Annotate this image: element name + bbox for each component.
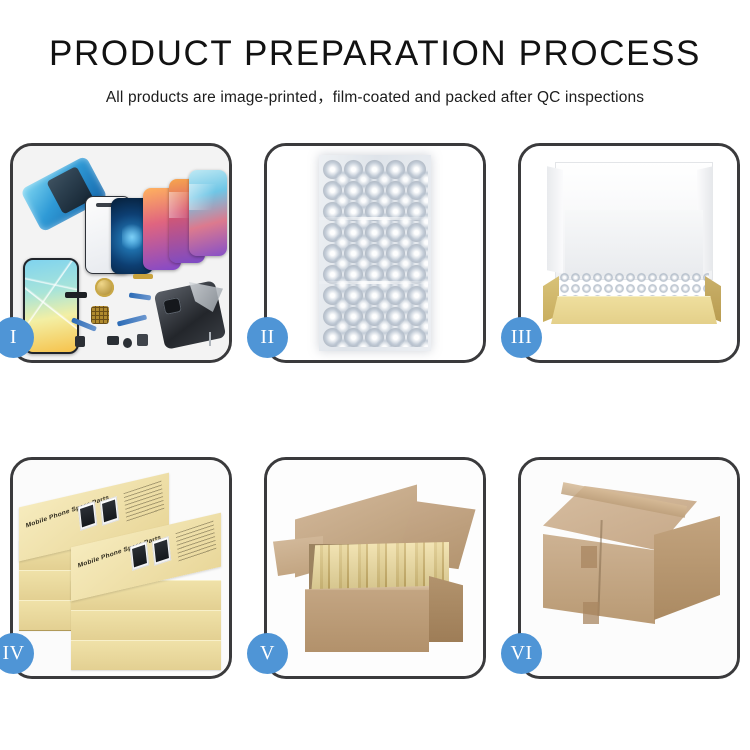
step-badge-3: III xyxy=(501,317,542,358)
stacked-box-graphic xyxy=(71,610,221,640)
box-lid-left-graphic xyxy=(547,166,563,273)
stacked-box-graphic xyxy=(71,640,221,670)
chip-component-graphic xyxy=(91,306,109,324)
box-label-spec-lines xyxy=(124,481,165,523)
box-label-phone-image xyxy=(152,536,172,566)
bubble-wrapped-contents-graphic xyxy=(559,272,709,298)
small-part-graphic xyxy=(75,336,85,347)
cyan-display-screen-graphic xyxy=(189,170,227,256)
step-badge-6: VI xyxy=(501,633,542,674)
photo-phone-screens-and-spare-parts xyxy=(13,146,229,360)
carton-front-face-graphic xyxy=(305,590,429,652)
box-label-phone-image xyxy=(130,541,150,571)
step-badge-5: V xyxy=(247,633,288,674)
photo-inner-box-packing xyxy=(521,146,737,360)
process-step-panel-4: Mobile Phone Spare Parts Mobile Phone Sp… xyxy=(10,457,232,679)
process-step-grid: I II III xyxy=(10,143,740,679)
photo-stacked-retail-boxes: Mobile Phone Spare Parts Mobile Phone Sp… xyxy=(13,460,229,676)
button-flex-graphic xyxy=(133,274,153,279)
small-part-graphic xyxy=(123,338,132,348)
process-step-panel-3: III xyxy=(518,143,740,363)
step-badge-2: II xyxy=(247,317,288,358)
process-step-panel-5: V xyxy=(264,457,486,679)
process-step-panel-1: I xyxy=(10,143,232,363)
page-subtitle: All products are image-printed，film-coat… xyxy=(0,85,750,107)
flex-cable-graphic xyxy=(129,292,151,300)
bubble-pattern-overlay-graphic xyxy=(332,169,428,347)
photo-sealed-carton xyxy=(521,460,737,676)
process-step-panel-6: VI xyxy=(518,457,740,679)
box-label-phone-image xyxy=(78,501,98,531)
box-tray-front-graphic xyxy=(551,296,717,324)
photo-open-carton-loading xyxy=(267,460,483,676)
carton-side-face-graphic xyxy=(429,576,463,642)
tape-tab-graphic xyxy=(581,546,597,568)
tape-tab-graphic xyxy=(583,602,599,624)
box-label-phone-image xyxy=(100,496,120,526)
box-label-spec-lines xyxy=(176,521,217,563)
wrap-seam-graphic xyxy=(319,217,431,220)
small-part-graphic xyxy=(107,336,119,345)
wrap-seam-graphic xyxy=(319,281,431,284)
box-stack-graphic: Mobile Phone Spare Parts Mobile Phone Sp… xyxy=(17,468,229,672)
bubble-wrap-sheet-graphic xyxy=(319,155,431,351)
small-part-graphic xyxy=(137,334,148,346)
header: PRODUCT PREPARATION PROCESS All products… xyxy=(0,0,750,107)
page-title: PRODUCT PREPARATION PROCESS xyxy=(0,36,750,71)
coil-component-graphic xyxy=(95,278,114,297)
photo-bubble-wrap-packing xyxy=(267,146,483,360)
foam-liner-graphic xyxy=(565,210,703,276)
speaker-component-graphic xyxy=(65,292,87,298)
process-step-panel-2: II xyxy=(264,143,486,363)
flex-cable-graphic xyxy=(117,314,147,326)
screws-graphic xyxy=(209,332,225,346)
